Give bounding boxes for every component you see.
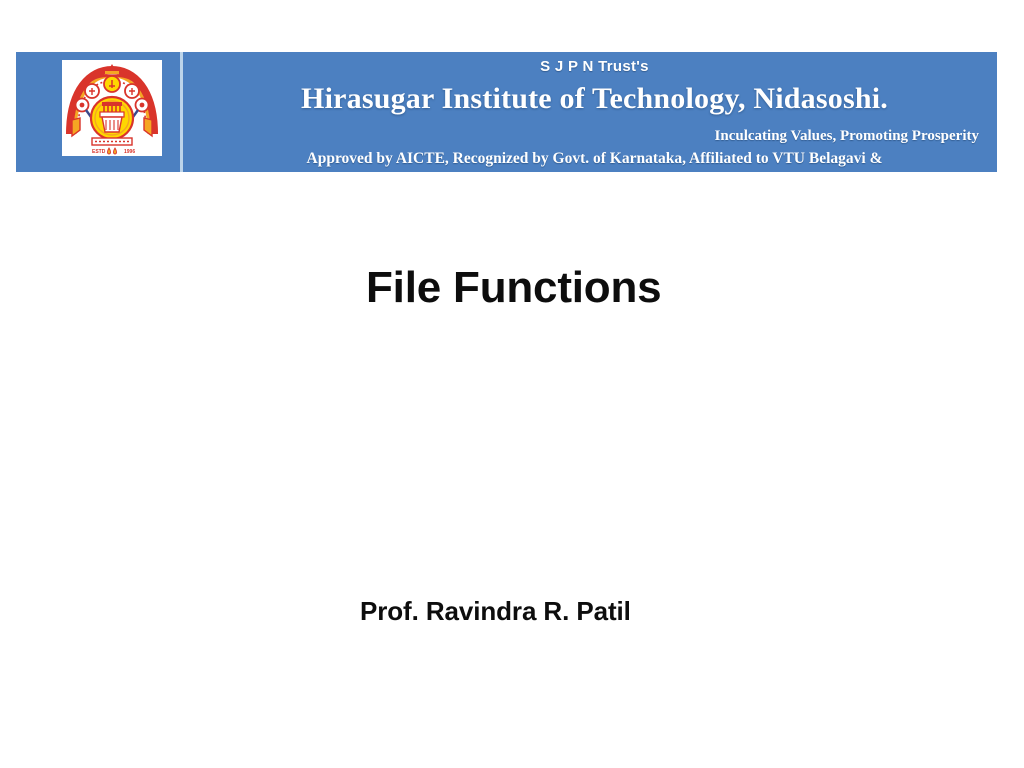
header-vertical-divider — [180, 52, 183, 172]
slide-presenter-name: Prof. Ravindra R. Patil — [360, 595, 631, 627]
svg-text:ESTD: ESTD — [92, 149, 106, 155]
slide-title: File Functions — [366, 262, 661, 314]
institute-emblem-logo: ESTD 1996 — [62, 60, 162, 156]
institute-name: Hirasugar Institute of Technology, Nidas… — [192, 82, 997, 116]
institute-tagline: Inculcating Values, Promoting Prosperity — [192, 128, 979, 145]
institute-logo-container: ESTD 1996 — [62, 60, 162, 156]
trust-name: S J P N Trust's — [192, 58, 997, 75]
institute-approval-line: Approved by AICTE, Recognized by Govt. o… — [192, 150, 997, 168]
presentation-slide: ESTD 1996 S J P N Trust's Hirasugar Inst… — [0, 0, 1024, 768]
svg-text:1996: 1996 — [124, 149, 135, 155]
institute-header-banner: ESTD 1996 S J P N Trust's Hirasugar Inst… — [16, 52, 997, 172]
header-text-block: S J P N Trust's Hirasugar Institute of T… — [192, 52, 997, 172]
